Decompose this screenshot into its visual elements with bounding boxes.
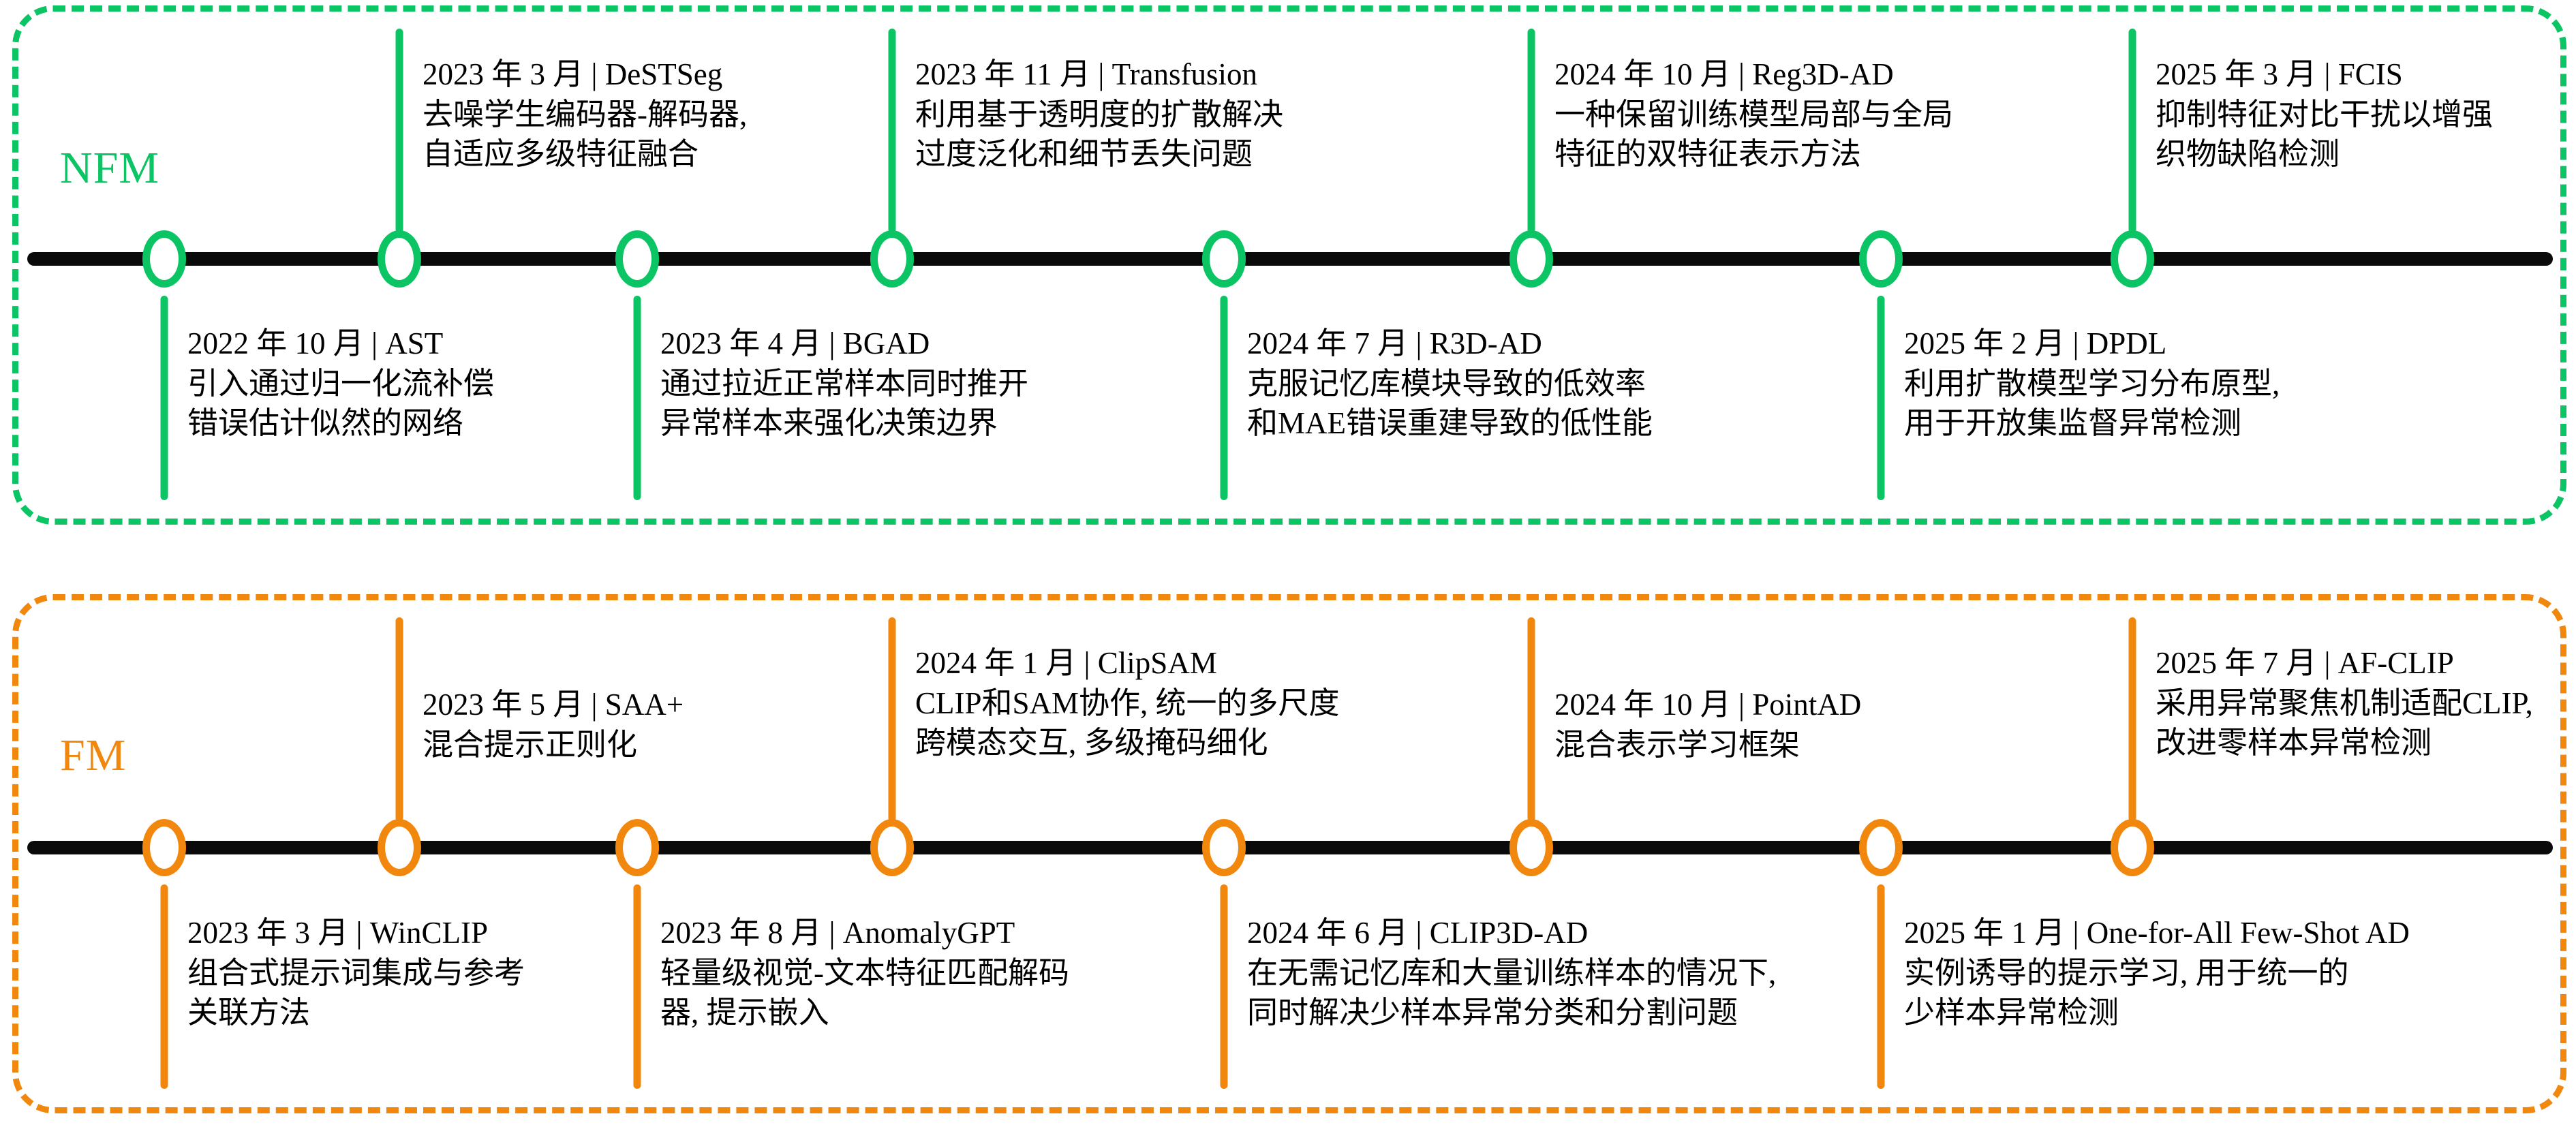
entry-title: 2023 年 3 月 | DeSTSeg (423, 55, 747, 95)
entry-name: WinCLIP (370, 916, 488, 950)
entry-date: 2024 年 10 月 (1554, 688, 1731, 722)
entry-date: 2022 年 10 月 (187, 326, 364, 360)
timeline-node-nfm-3[interactable] (870, 230, 914, 288)
timeline-stem-fm-1 (396, 617, 403, 822)
timeline-entry-fm-1: 2023 年 5 月 | SAA+ 混合提示正则化 (423, 685, 684, 765)
timeline-entry-fm-3: 2024 年 1 月 | ClipSAM CLIP和SAM协作, 统一的多尺度 … (915, 643, 1340, 763)
timeline-entry-nfm-4: 2024 年 7 月 | R3D-AD 克服记忆库模块导致的低效率 和MAE错误… (1247, 324, 1653, 444)
timeline-stem-fm-7 (2129, 617, 2136, 822)
entry-name: AST (385, 326, 443, 360)
timeline-stem-nfm-2 (634, 296, 641, 500)
entry-desc-line: 利用扩散模型学习分布原型, (1904, 364, 2280, 404)
timeline-stem-fm-0 (161, 884, 168, 1089)
timeline-stem-nfm-1 (396, 29, 403, 233)
timeline-stem-fm-3 (889, 617, 896, 822)
timeline-stem-nfm-6 (1877, 296, 1885, 500)
entry-date: 2024 年 10 月 (1554, 57, 1731, 91)
timeline-node-fm-2[interactable] (615, 819, 659, 876)
entry-desc-line: 错误估计似然的网络 (187, 403, 494, 444)
entry-desc-line: 采用异常聚焦机制适配CLIP, (2156, 683, 2533, 724)
entry-desc-line: 一种保留训练模型局部与全局 (1554, 95, 1953, 135)
entry-name: ClipSAM (1098, 646, 1217, 680)
timeline-entry-fm-4: 2024 年 6 月 | CLIP3D-AD 在无需记忆库和大量训练样本的情况下… (1247, 913, 1776, 1033)
entry-desc-line: 同时解决少样本异常分类和分割问题 (1247, 993, 1776, 1033)
timeline-entry-fm-0: 2023 年 3 月 | WinCLIP 组合式提示词集成与参考 关联方法 (187, 913, 525, 1033)
entry-name: AnomalyGPT (843, 916, 1015, 950)
timeline-stem-fm-2 (634, 884, 641, 1089)
entry-desc-line: 和MAE错误重建导致的低性能 (1247, 403, 1653, 444)
group-label-nfm: NFM (60, 146, 159, 191)
timeline-node-nfm-2[interactable] (615, 230, 659, 288)
timeline-entry-nfm-2: 2023 年 4 月 | BGAD 通过拉近正常样本同时推开 异常样本来强化决策… (660, 324, 1028, 444)
timeline-stem-nfm-0 (161, 296, 168, 500)
entry-title: 2025 年 1 月 | One-for-All Few-Shot AD (1904, 913, 2410, 953)
entry-title: 2024 年 1 月 | ClipSAM (915, 643, 1340, 683)
entry-desc-line: 特征的双特征表示方法 (1554, 134, 1953, 174)
entry-date: 2025 年 3 月 (2156, 57, 2316, 91)
entry-name: Transfusion (1112, 57, 1257, 91)
timeline-node-fm-0[interactable] (142, 819, 186, 876)
entry-title: 2022 年 10 月 | AST (187, 324, 494, 364)
entry-desc-line: 组合式提示词集成与参考 (187, 953, 525, 993)
timeline-entry-fm-5: 2024 年 10 月 | PointAD 混合表示学习框架 (1554, 685, 1861, 765)
entry-title: 2023 年 4 月 | BGAD (660, 324, 1028, 364)
entry-date: 2024 年 7 月 (1247, 326, 1408, 360)
timeline-stem-nfm-5 (1528, 29, 1535, 233)
entry-date: 2025 年 7 月 (2156, 646, 2316, 680)
entry-desc-line: 过度泛化和细节丢失问题 (915, 134, 1283, 174)
timeline-stem-nfm-4 (1221, 296, 1228, 500)
entry-date: 2023 年 5 月 (423, 688, 583, 722)
group-label-fm: FM (60, 733, 126, 778)
timeline-node-nfm-0[interactable] (142, 230, 186, 288)
timeline-entry-nfm-5: 2024 年 10 月 | Reg3D-AD 一种保留训练模型局部与全局 特征的… (1554, 55, 1953, 174)
entry-desc-line: 混合提示正则化 (423, 725, 684, 765)
entry-desc-line: 通过拉近正常样本同时推开 (660, 364, 1028, 404)
timeline-entry-nfm-6: 2025 年 2 月 | DPDL 利用扩散模型学习分布原型, 用于开放集监督异… (1904, 324, 2280, 444)
entry-desc-line: 利用基于透明度的扩散解决 (915, 95, 1283, 135)
entry-date: 2023 年 11 月 (915, 57, 1090, 91)
entry-date: 2024 年 6 月 (1247, 916, 1408, 950)
timeline-node-fm-3[interactable] (870, 819, 914, 876)
entry-title: 2025 年 2 月 | DPDL (1904, 324, 2280, 364)
entry-name: One-for-All Few-Shot AD (2087, 916, 2410, 950)
entry-name: SAA+ (605, 688, 684, 722)
timeline-entry-nfm-7: 2025 年 3 月 | FCIS 抑制特征对比干扰以增强 织物缺陷检测 (2156, 55, 2493, 174)
entry-date: 2024 年 1 月 (915, 646, 1076, 680)
timeline-node-fm-1[interactable] (378, 819, 421, 876)
timeline-node-nfm-7[interactable] (2111, 230, 2154, 288)
entry-desc-line: 器, 提示嵌入 (660, 993, 1069, 1033)
entry-title: 2024 年 10 月 | Reg3D-AD (1554, 55, 1953, 95)
entry-desc-line: 克服记忆库模块导致的低效率 (1247, 364, 1653, 404)
entry-name: DPDL (2087, 326, 2167, 360)
entry-desc-line: 轻量级视觉-文本特征匹配解码 (660, 953, 1069, 993)
timeline-node-fm-4[interactable] (1202, 819, 1246, 876)
timeline-node-nfm-6[interactable] (1859, 230, 1903, 288)
timeline-node-fm-6[interactable] (1859, 819, 1903, 876)
entry-desc-line: 用于开放集监督异常检测 (1904, 403, 2280, 444)
entry-name: BGAD (843, 326, 930, 360)
entry-desc-line: 关联方法 (187, 993, 525, 1033)
timeline-node-fm-5[interactable] (1509, 819, 1553, 876)
timeline-node-fm-7[interactable] (2111, 819, 2154, 876)
entry-name: PointAD (1752, 688, 1861, 722)
entry-desc-line: 异常样本来强化决策边界 (660, 403, 1028, 444)
entry-desc-line: 改进零样本异常检测 (2156, 723, 2533, 763)
entry-title: 2025 年 3 月 | FCIS (2156, 55, 2493, 95)
entry-date: 2023 年 4 月 (660, 326, 821, 360)
entry-desc-line: 混合表示学习框架 (1554, 725, 1861, 765)
timeline-entry-nfm-0: 2022 年 10 月 | AST 引入通过归一化流补偿 错误估计似然的网络 (187, 324, 494, 444)
entry-desc-line: 实例诱导的提示学习, 用于统一的 (1904, 953, 2410, 993)
entry-desc-line: 少样本异常检测 (1904, 993, 2410, 1033)
timeline-node-nfm-1[interactable] (378, 230, 421, 288)
timeline-stem-nfm-3 (889, 29, 896, 233)
entry-name: AF-CLIP (2338, 646, 2454, 680)
entry-name: Reg3D-AD (1752, 57, 1893, 91)
timeline-entry-fm-6: 2025 年 1 月 | One-for-All Few-Shot AD 实例诱… (1904, 913, 2410, 1033)
entry-date: 2023 年 3 月 (423, 57, 583, 91)
entry-date: 2023 年 8 月 (660, 916, 821, 950)
entry-title: 2023 年 11 月 | Transfusion (915, 55, 1283, 95)
entry-title: 2023 年 8 月 | AnomalyGPT (660, 913, 1069, 953)
entry-date: 2023 年 3 月 (187, 916, 348, 950)
entry-desc-line: 在无需记忆库和大量训练样本的情况下, (1247, 953, 1776, 993)
timeline-entry-nfm-1: 2023 年 3 月 | DeSTSeg 去噪学生编码器-解码器, 自适应多级特… (423, 55, 747, 174)
entry-title: 2024 年 6 月 | CLIP3D-AD (1247, 913, 1776, 953)
timeline-stem-fm-6 (1877, 884, 1885, 1089)
entry-desc-line: 抑制特征对比干扰以增强 (2156, 95, 2493, 135)
entry-name: CLIP3D-AD (1430, 916, 1589, 950)
entry-name: R3D-AD (1430, 326, 1542, 360)
timeline-entry-fm-2: 2023 年 8 月 | AnomalyGPT 轻量级视觉-文本特征匹配解码 器… (660, 913, 1069, 1033)
entry-date: 2025 年 2 月 (1904, 326, 2065, 360)
entry-desc-line: 自适应多级特征融合 (423, 134, 747, 174)
entry-desc-line: 织物缺陷检测 (2156, 134, 2493, 174)
entry-desc-line: CLIP和SAM协作, 统一的多尺度 (915, 683, 1340, 724)
entry-title: 2023 年 3 月 | WinCLIP (187, 913, 525, 953)
timeline-entry-fm-7: 2025 年 7 月 | AF-CLIP 采用异常聚焦机制适配CLIP, 改进零… (2156, 643, 2533, 763)
entry-name: DeSTSeg (605, 57, 723, 91)
entry-desc-line: 跨模态交互, 多级掩码细化 (915, 723, 1340, 763)
entry-date: 2025 年 1 月 (1904, 916, 2065, 950)
entry-desc-line: 引入通过归一化流补偿 (187, 364, 494, 404)
timeline-node-nfm-5[interactable] (1509, 230, 1553, 288)
timeline-stem-fm-4 (1221, 884, 1228, 1089)
timeline-entry-nfm-3: 2023 年 11 月 | Transfusion 利用基于透明度的扩散解决 过… (915, 55, 1283, 174)
timeline-stem-fm-5 (1528, 617, 1535, 822)
entry-desc-line: 去噪学生编码器-解码器, (423, 95, 747, 135)
entry-name: FCIS (2338, 57, 2403, 91)
entry-title: 2024 年 10 月 | PointAD (1554, 685, 1861, 725)
entry-title: 2023 年 5 月 | SAA+ (423, 685, 684, 725)
timeline-node-nfm-4[interactable] (1202, 230, 1246, 288)
entry-title: 2025 年 7 月 | AF-CLIP (2156, 643, 2533, 683)
entry-title: 2024 年 7 月 | R3D-AD (1247, 324, 1653, 364)
timeline-stem-nfm-7 (2129, 29, 2136, 233)
timeline-figure: NFM 2023 年 3 月 | DeSTSeg 去噪学生编码器-解码器, 自适… (0, 0, 2576, 1127)
